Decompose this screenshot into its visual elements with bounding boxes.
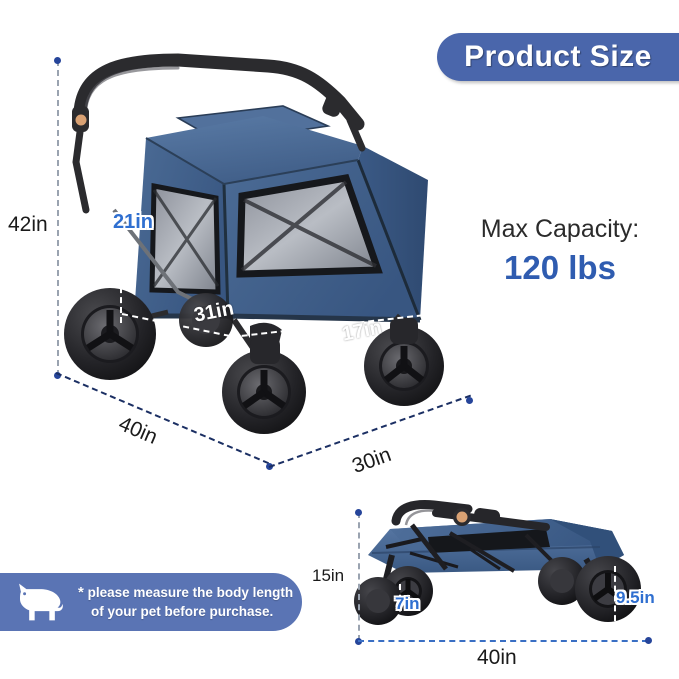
pet-note-text: * please measure the body length of your… (78, 583, 293, 620)
wheel-rear-left (64, 288, 156, 380)
dog-icon (12, 580, 72, 624)
folded-stroller-illustration (350, 495, 670, 635)
max-capacity-value: 120 lbs (455, 250, 665, 286)
guide-line-folded-height (358, 512, 360, 641)
guide-dot (645, 637, 652, 644)
pet-note-banner: * please measure the body length of your… (0, 573, 302, 631)
guide-dot (54, 57, 61, 64)
note-asterisk: * (78, 584, 84, 601)
guide-dot (466, 397, 473, 404)
product-size-banner-label: Product Size (464, 40, 660, 74)
dimension-folded-length: 40in (477, 646, 517, 670)
dimension-rear-wheel: 9.5in (616, 588, 655, 608)
guide-line-overall-height (57, 60, 59, 376)
max-capacity-title: Max Capacity: (455, 215, 665, 244)
dimension-front-wheel: 7in (395, 594, 420, 614)
dimension-folded-height: 15in (312, 566, 344, 586)
main-stroller-illustration (28, 20, 458, 450)
note-line-1: please measure the body length (88, 585, 294, 600)
guide-dot (355, 509, 362, 516)
dimension-cabin-height: 21in (113, 211, 153, 234)
dimension-overall-height: 42in (8, 213, 48, 237)
product-size-banner: Product Size (437, 33, 679, 81)
wheel-front-caster (222, 323, 306, 434)
guide-line-folded-length (358, 640, 648, 642)
max-capacity-block: Max Capacity: 120 lbs (455, 215, 665, 286)
note-line-2: of your pet before purchase. (91, 603, 273, 621)
